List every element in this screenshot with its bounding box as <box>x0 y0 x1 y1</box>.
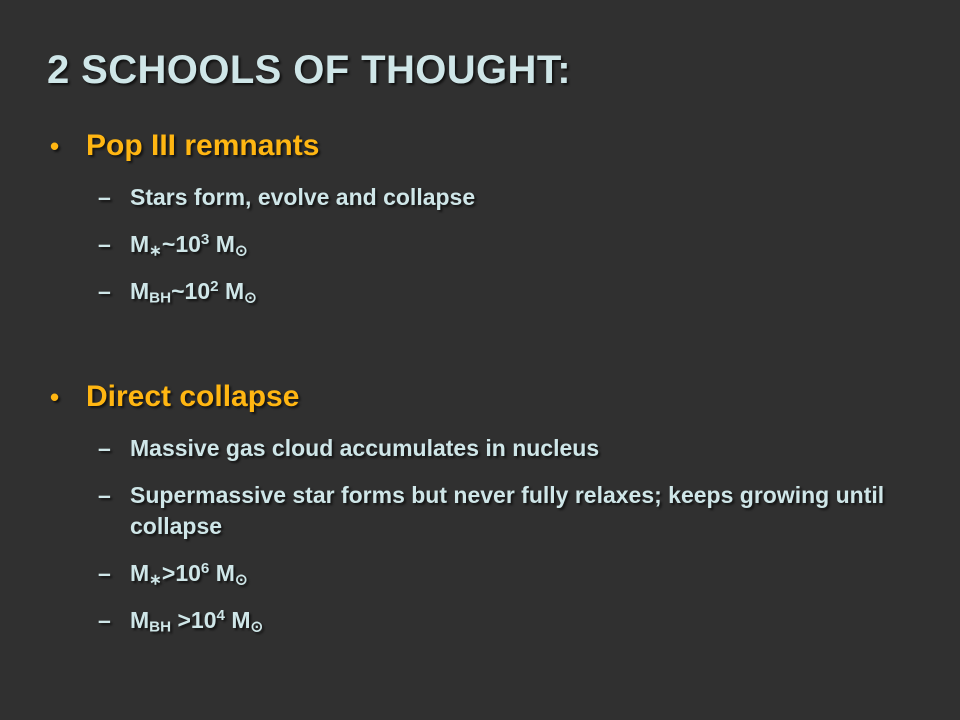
formula-mantissa: 10 <box>175 231 201 257</box>
solar-mass-icon: ⊙ <box>251 618 264 635</box>
content-section-2: • Direct collapse – Massive gas cloud ac… <box>0 377 960 636</box>
dash-marker-icon: – <box>98 480 122 511</box>
sub-bullet-formula: MBH >104 M⊙ <box>130 605 920 636</box>
bullet-heading-label: Direct collapse <box>86 380 299 413</box>
formula-base: M <box>130 560 149 586</box>
dash-marker-icon: – <box>98 229 122 260</box>
dash-marker-icon: – <box>98 605 122 636</box>
solar-mass-icon: ⊙ <box>235 571 248 588</box>
formula-mantissa: 10 <box>175 560 201 586</box>
dash-marker-icon: – <box>98 182 122 213</box>
formula-subscript: BH <box>149 618 171 635</box>
formula-unit-base: M <box>216 231 235 257</box>
formula-exponent: 2 <box>210 278 218 295</box>
formula-mantissa: 10 <box>185 278 211 304</box>
solar-mass-icon: ⊙ <box>244 289 257 306</box>
sub-bullet-formula: MBH~102 M⊙ <box>130 276 920 307</box>
bullet-heading-pop-iii-remnants: • Pop III remnants <box>0 126 960 166</box>
sub-bullet-formula: M∗>106 M⊙ <box>130 558 920 589</box>
formula-exponent: 6 <box>201 560 209 577</box>
formula-relation: ~ <box>171 278 184 304</box>
sub-bullet-item-mass-bh: – MBH >104 M⊙ <box>0 605 960 636</box>
bullet-dot-icon: • <box>50 377 70 417</box>
formula-mantissa: 10 <box>191 607 217 633</box>
content-section-1: • Pop III remnants – Stars form, evolve … <box>0 126 960 307</box>
sub-bullet-formula: M∗~103 M⊙ <box>130 229 920 260</box>
formula-relation: ~ <box>162 231 175 257</box>
bullet-heading-label: Pop III remnants <box>86 129 319 162</box>
formula-base: M <box>130 607 149 633</box>
bullet-heading-direct-collapse: • Direct collapse <box>0 377 960 417</box>
formula-unit-base: M <box>231 607 250 633</box>
sub-bullet-item-mass-star: – M∗>106 M⊙ <box>0 558 960 589</box>
formula-unit-base: M <box>225 278 244 304</box>
formula-exponent: 3 <box>201 231 209 248</box>
page-title: 2 SCHOOLS OF THOUGHT: <box>47 47 917 93</box>
dash-marker-icon: – <box>98 558 122 589</box>
sub-bullet-label: Massive gas cloud accumulates in nucleus <box>130 433 920 464</box>
solar-mass-icon: ⊙ <box>235 242 248 259</box>
sub-bullet-label: Stars form, evolve and collapse <box>130 182 920 213</box>
bullet-dot-icon: • <box>50 126 70 166</box>
sub-bullet-item-mass-bh: – MBH~102 M⊙ <box>0 276 960 307</box>
formula-base: M <box>130 278 149 304</box>
formula-subscript: ∗ <box>149 571 162 588</box>
formula-unit-base: M <box>216 560 235 586</box>
formula-subscript: BH <box>149 289 171 306</box>
formula-relation: > <box>171 607 191 633</box>
dash-marker-icon: – <box>98 433 122 464</box>
slide-body: • Pop III remnants – Stars form, evolve … <box>0 126 960 636</box>
formula-relation: > <box>162 560 175 586</box>
sub-bullet-item-wrapping: – Supermassive star forms but never full… <box>0 480 960 542</box>
sub-bullet-item: – Stars form, evolve and collapse <box>0 182 960 213</box>
formula-subscript: ∗ <box>149 242 162 259</box>
formula-base: M <box>130 231 149 257</box>
formula-exponent: 4 <box>217 607 225 624</box>
dash-marker-icon: – <box>98 276 122 307</box>
sub-bullet-item-mass-star: – M∗~103 M⊙ <box>0 229 960 260</box>
sub-bullet-label: Supermassive star forms but never fully … <box>130 480 920 542</box>
presentation-slide: 2 SCHOOLS OF THOUGHT: • Pop III remnants… <box>0 0 960 720</box>
sub-bullet-item: – Massive gas cloud accumulates in nucle… <box>0 433 960 464</box>
